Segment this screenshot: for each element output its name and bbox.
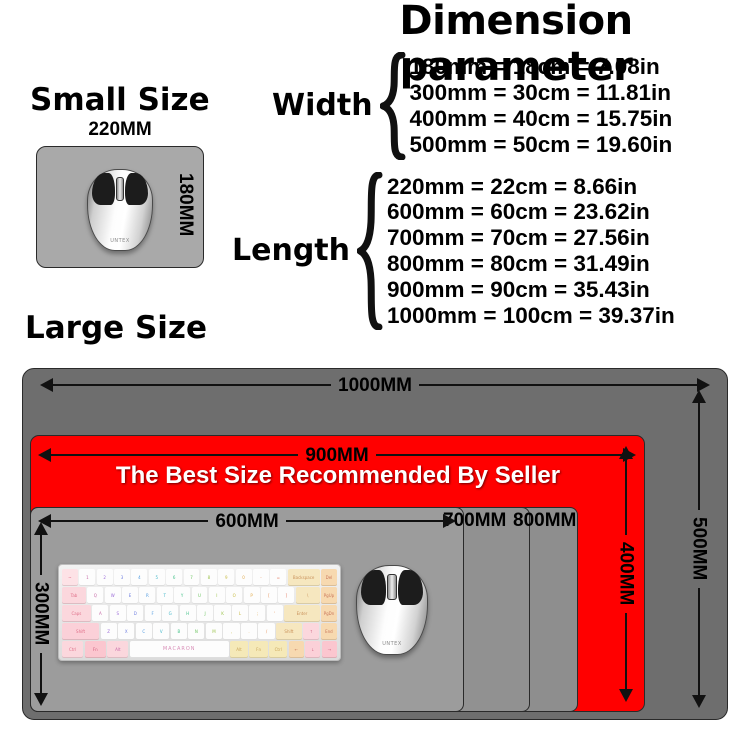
- large-size-heading: Large Size: [25, 310, 207, 346]
- length-brace-icon: [357, 172, 383, 330]
- keyboard-row: ~ 1 2 3 4 5 6 7 8 9 0 - = Backspace Del: [62, 569, 337, 586]
- width-dimension-group: Width 180mm = 18cm = 7.08in 300mm = 30cm…: [272, 52, 672, 160]
- arrow-head-down-icon: [34, 693, 48, 706]
- keyboard-row: Shift Z X C V B N M , . / Shift ↑ End: [62, 623, 337, 640]
- small-pad-width-label: 220MM: [36, 119, 204, 141]
- length-dimension-group: Length 220mm = 22cm = 8.66in 600mm = 60c…: [232, 172, 675, 330]
- dimension-arrow-600mm: 600MM: [38, 514, 456, 528]
- length-rows: 220mm = 22cm = 8.66in 600mm = 60cm = 23.…: [387, 174, 675, 329]
- mouse-right-button: [125, 173, 148, 205]
- length-row: 700mm = 70cm = 27.56in: [387, 225, 675, 251]
- width-label: Width: [272, 89, 373, 123]
- mouse-left-button: [92, 173, 115, 205]
- mouse-scroll-wheel: [116, 177, 125, 201]
- small-size-heading: Small Size: [30, 82, 210, 118]
- keyboard-illustration: ~ 1 2 3 4 5 6 7 8 9 0 - = Backspace Del …: [58, 564, 341, 661]
- keyboard-spacebar-logo: MACARON: [130, 641, 229, 658]
- length-row: 1000mm = 100cm = 39.37in: [387, 303, 675, 329]
- dimension-arrow-1000mm-label: 1000MM: [331, 376, 419, 395]
- mouse-left-button: [361, 570, 386, 605]
- length-row: 800mm = 80cm = 31.49in: [387, 251, 675, 277]
- arrow-head-left-icon: [38, 448, 51, 462]
- width-row: 300mm = 30cm = 11.81in: [410, 80, 673, 106]
- width-brace-icon: [380, 52, 406, 160]
- mouse-scroll-wheel: [387, 574, 397, 600]
- arrow-head-up-icon: [619, 446, 633, 459]
- keyboard-row: Caps A S D F G H J K L ; ' Enter PgDn: [62, 605, 337, 622]
- mouse-body: UNTEX: [356, 565, 428, 655]
- width-row: 500mm = 50cm = 19.60in: [410, 132, 673, 158]
- small-pad-height-label: 180MM: [174, 173, 196, 236]
- dimension-arrow-900mm-label: 900MM: [298, 446, 375, 465]
- dimension-arrow-400mm-label: 400MM: [617, 535, 636, 612]
- dimension-arrow-500mm: 500MM: [692, 390, 706, 708]
- mouse-illustration: UNTEX: [87, 169, 153, 251]
- recommendation-banner: The Best Size Recommended By Seller: [40, 462, 636, 490]
- mouse-right-button: [398, 570, 423, 605]
- width-row: 400mm = 40cm = 15.75in: [410, 106, 673, 132]
- panel-800mm-label: 800MM: [513, 510, 576, 532]
- length-row: 600mm = 60cm = 23.62in: [387, 199, 675, 225]
- mouse-body: UNTEX: [87, 169, 153, 251]
- width-rows: 180mm = 18cm = 7.08in 300mm = 30cm = 11.…: [410, 54, 673, 157]
- dimension-arrow-300mm: 300MM: [34, 522, 48, 706]
- mouse-brand-logo: UNTEX: [357, 641, 427, 647]
- mouse-brand-logo: UNTEX: [88, 238, 152, 244]
- dimension-arrow-500mm-label: 500MM: [690, 510, 709, 587]
- length-row: 900mm = 90cm = 35.43in: [387, 277, 675, 303]
- dimension-arrow-300mm-label: 300MM: [32, 575, 51, 652]
- dimension-arrow-900mm: 900MM: [38, 448, 636, 462]
- dimension-arrow-1000mm: 1000MM: [40, 378, 710, 392]
- arrow-head-right-icon: [443, 514, 456, 528]
- keyboard-row: Ctrl Fn Alt MACARON Alt Fn Ctrl ← ↓ →: [62, 641, 337, 658]
- arrow-head-up-icon: [34, 522, 48, 535]
- length-label: Length: [232, 234, 350, 268]
- arrow-head-down-icon: [619, 689, 633, 702]
- mouse-illustration-large: UNTEX: [356, 565, 428, 655]
- dimension-arrow-600mm-label: 600MM: [208, 512, 285, 531]
- arrow-head-down-icon: [692, 695, 706, 708]
- arrow-head-up-icon: [692, 390, 706, 403]
- dimension-arrow-400mm: 400MM: [619, 446, 633, 702]
- width-row: 180mm = 18cm = 7.08in: [410, 54, 673, 80]
- length-row: 220mm = 22cm = 8.66in: [387, 174, 675, 200]
- keyboard-row: Tab Q W E R T Y U I O P [ ] \ PgUp: [62, 587, 337, 604]
- arrow-head-left-icon: [40, 378, 53, 392]
